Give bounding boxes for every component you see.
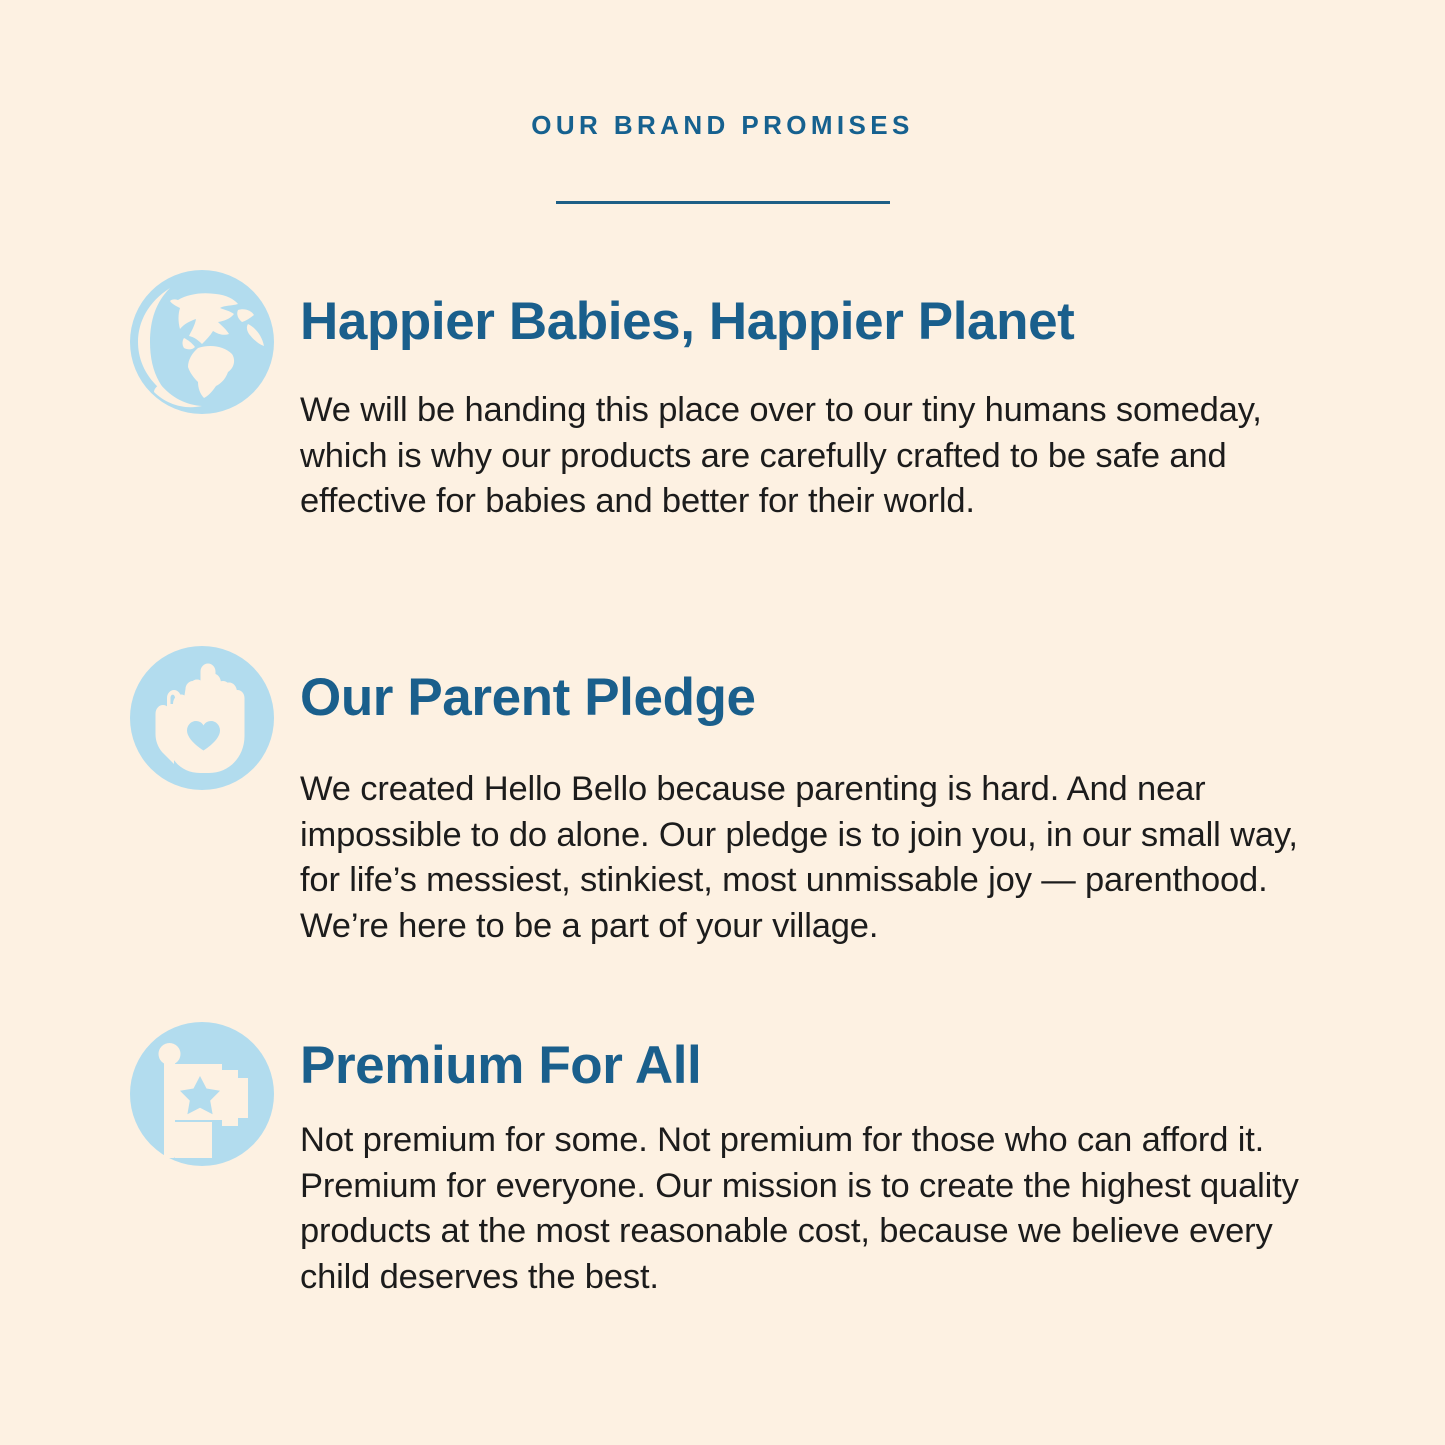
- promise-text: Not premium for some. Not premium for th…: [300, 1118, 1325, 1302]
- promise-item: Premium For All Not premium for some. No…: [126, 1018, 1325, 1318]
- flag-star-icon: [126, 1018, 278, 1170]
- promise-title: Our Parent Pledge: [300, 642, 1325, 726]
- promise-content: Our Parent Pledge We created Hello Bello…: [126, 642, 1325, 950]
- promise-content: Premium For All Not premium for some. No…: [126, 1018, 1325, 1301]
- promise-item: Our Parent Pledge We created Hello Bello…: [126, 642, 1325, 972]
- promise-title: Premium For All: [300, 1018, 1325, 1094]
- page-header: OUR BRAND PROMISES: [0, 0, 1445, 204]
- globe-icon: [126, 266, 278, 418]
- header-divider: [556, 201, 890, 204]
- page-title: OUR BRAND PROMISES: [0, 112, 1445, 138]
- promise-text: We created Hello Bello because parenting…: [300, 767, 1325, 951]
- promise-item: Happier Babies, Happier Planet We will b…: [126, 266, 1325, 596]
- promise-title: Happier Babies, Happier Planet: [300, 266, 1325, 350]
- promise-text: We will be handing this place over to ou…: [300, 388, 1325, 526]
- brand-promises-page: OUR BRAND PROMISES: [0, 0, 1445, 1445]
- promise-list: Happier Babies, Happier Planet We will b…: [0, 266, 1445, 1318]
- promise-content: Happier Babies, Happier Planet We will b…: [126, 266, 1325, 525]
- hand-heart-icon: [126, 642, 278, 794]
